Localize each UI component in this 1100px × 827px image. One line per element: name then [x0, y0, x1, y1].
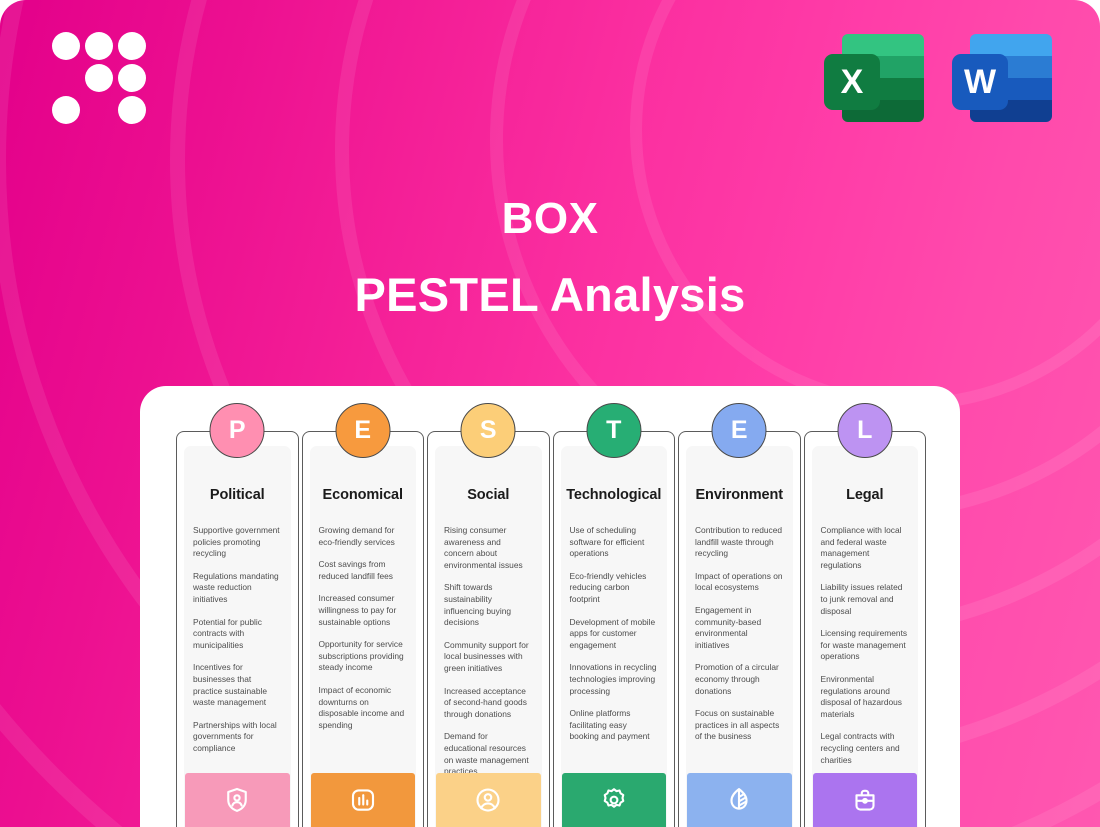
pestel-point: Innovations in recycling technologies im… — [570, 662, 659, 697]
pestel-point: Cost savings from reduced landfill fees — [319, 559, 408, 582]
leaf-icon-strip — [687, 773, 792, 827]
pestel-letter-badge: L — [837, 403, 892, 458]
pestel-card-body: SocialRising consumer awareness and conc… — [435, 446, 542, 827]
pestel-card-body: EconomicalGrowing demand for eco-friendl… — [310, 446, 417, 827]
title-line-1: BOX — [0, 196, 1100, 242]
pestel-point: Regulations mandating waste reduction in… — [193, 571, 282, 606]
pestel-card-row: PPoliticalSupportive government policies… — [176, 431, 926, 827]
pestel-point-list: Contribution to reduced landfill waste t… — [686, 509, 793, 773]
title-line-2: PESTEL Analysis — [0, 270, 1100, 319]
pestel-point: Supportive government policies promoting… — [193, 525, 282, 560]
pestel-point: Online platforms facilitating easy booki… — [570, 708, 659, 743]
pestel-point: Development of mobile apps for customer … — [570, 617, 659, 652]
excel-icon[interactable]: X — [824, 28, 924, 122]
office-format-icons: X W — [824, 28, 1052, 122]
pestel-letter-badge: P — [210, 403, 265, 458]
shield-person-icon-strip — [185, 773, 290, 827]
slide-canvas: X W BOX PESTEL Analysis PPoliticalSuppor… — [0, 0, 1100, 827]
pestel-point: Community support for local businesses w… — [444, 640, 533, 675]
pestel-point: Eco-friendly vehicles reducing carbon fo… — [570, 571, 659, 606]
pestel-point-list: Supportive government policies promoting… — [184, 509, 291, 773]
pestel-point-list: Rising consumer awareness and concern ab… — [435, 509, 542, 773]
pestel-point: Focus on sustainable practices in all as… — [695, 708, 784, 743]
pestel-card-body: LegalCompliance with local and federal w… — [812, 446, 919, 827]
pestel-card-economical[interactable]: EEconomicalGrowing demand for eco-friend… — [302, 431, 425, 827]
pestel-letter-badge: E — [335, 403, 390, 458]
pestel-card-body: TechnologicalUse of scheduling software … — [561, 446, 668, 827]
shield-person-icon — [222, 785, 252, 815]
logo-dot — [85, 32, 113, 60]
pestel-point: Use of scheduling software for efficient… — [570, 525, 659, 560]
pestel-point: Environmental regulations around disposa… — [821, 674, 910, 720]
pestel-point: Growing demand for eco-friendly services — [319, 525, 408, 548]
bar-chart-icon-strip — [311, 773, 416, 827]
briefcase-icon — [850, 785, 880, 815]
page-title: BOX PESTEL Analysis — [0, 196, 1100, 320]
pestel-point: Demand for educational resources on wast… — [444, 731, 533, 773]
pestel-point: Contribution to reduced landfill waste t… — [695, 525, 784, 560]
briefcase-icon-strip — [813, 773, 918, 827]
leaf-icon — [724, 785, 754, 815]
pestel-point: Impact of operations on local ecosystems — [695, 571, 784, 594]
pestel-point: Incentives for businesses that practice … — [193, 662, 282, 708]
pestel-point: Partnerships with local governments for … — [193, 720, 282, 755]
pestel-point: Increased acceptance of second-hand good… — [444, 686, 533, 721]
pestel-card-legal[interactable]: LLegalCompliance with local and federal … — [804, 431, 927, 827]
pestel-point: Increased consumer willingness to pay fo… — [319, 593, 408, 628]
word-icon[interactable]: W — [952, 28, 1052, 122]
pestel-point: Rising consumer awareness and concern ab… — [444, 525, 533, 571]
logo-dot — [85, 64, 113, 92]
pestel-point: Potential for public contracts with muni… — [193, 617, 282, 652]
pestel-point: Compliance with local and federal waste … — [821, 525, 910, 571]
pestel-point: Opportunity for service subscriptions pr… — [319, 639, 408, 674]
pestel-point: Licensing requirements for waste managem… — [821, 628, 910, 663]
pestel-letter-badge: S — [461, 403, 516, 458]
logo-dot — [118, 32, 146, 60]
logo-dot — [52, 96, 80, 124]
dot-grid-logo — [52, 32, 146, 124]
word-letter: W — [952, 54, 1008, 110]
pestel-point-list: Use of scheduling software for efficient… — [561, 509, 668, 773]
pestel-point: Engagement in community-based environmen… — [695, 605, 784, 651]
pestel-card-technological[interactable]: TTechnologicalUse of scheduling software… — [553, 431, 676, 827]
pestel-letter-badge: E — [712, 403, 767, 458]
pestel-card-social[interactable]: SSocialRising consumer awareness and con… — [427, 431, 550, 827]
pestel-point: Promotion of a circular economy through … — [695, 662, 784, 697]
pestel-card-political[interactable]: PPoliticalSupportive government policies… — [176, 431, 299, 827]
pestel-point: Shift towards sustainability influencing… — [444, 582, 533, 628]
pestel-card-environment[interactable]: EEnvironmentContribution to reduced land… — [678, 431, 801, 827]
pestel-card-body: PoliticalSupportive government policies … — [184, 446, 291, 827]
logo-dot — [52, 32, 80, 60]
logo-dot — [118, 64, 146, 92]
person-circle-icon-strip — [436, 773, 541, 827]
pestel-panel: PPoliticalSupportive government policies… — [140, 386, 960, 827]
logo-dot — [118, 96, 146, 124]
gear-icon — [599, 785, 629, 815]
excel-letter: X — [824, 54, 880, 110]
pestel-point-list: Compliance with local and federal waste … — [812, 509, 919, 773]
bar-chart-icon — [348, 785, 378, 815]
pestel-point-list: Growing demand for eco-friendly services… — [310, 509, 417, 773]
pestel-point: Impact of economic downturns on disposab… — [319, 685, 408, 731]
pestel-card-body: EnvironmentContribution to reduced landf… — [686, 446, 793, 827]
pestel-point: Liability issues related to junk removal… — [821, 582, 910, 617]
gear-icon-strip — [562, 773, 667, 827]
pestel-letter-badge: T — [586, 403, 641, 458]
person-circle-icon — [473, 785, 503, 815]
pestel-point: Legal contracts with recycling centers a… — [821, 731, 910, 766]
